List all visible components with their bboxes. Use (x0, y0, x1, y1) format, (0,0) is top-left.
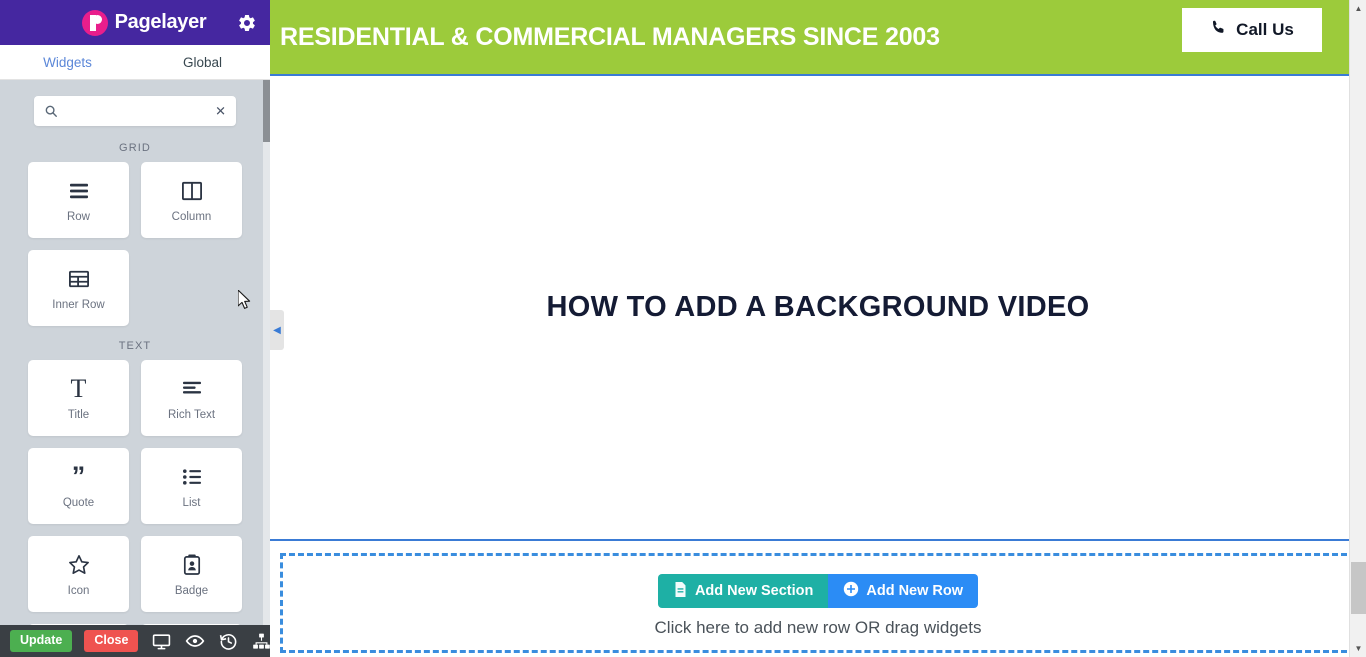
widget-label: Icon (68, 585, 90, 597)
update-button[interactable]: Update (10, 630, 72, 652)
widget-label: Inner Row (52, 299, 104, 311)
widget-label: Badge (175, 585, 208, 597)
history-icon[interactable] (219, 630, 238, 652)
widget-card-list[interactable]: List (141, 448, 242, 524)
banner-title: RESIDENTIAL & COMMERCIAL MANAGERS SINCE … (280, 23, 940, 52)
widget-label: List (183, 497, 201, 509)
widget-label: Column (172, 211, 212, 223)
file-icon (673, 581, 688, 602)
sidebar-content: ✕ GRID Row (0, 80, 270, 657)
search-icon (44, 104, 58, 118)
widget-card-rich-text[interactable]: Rich Text (141, 360, 242, 436)
widget-card-badge[interactable]: Badge (141, 536, 242, 612)
widget-grid-grid: Row Column (0, 162, 270, 326)
table-icon (68, 266, 90, 292)
hero-banner: RESIDENTIAL & COMMERCIAL MANAGERS SINCE … (270, 0, 1366, 76)
desktop-icon[interactable] (152, 630, 171, 652)
id-badge-icon (183, 552, 201, 578)
category-label-text: TEXT (0, 340, 270, 352)
scroll-up-arrow-icon[interactable]: ▲ (1350, 0, 1366, 17)
phone-icon (1210, 19, 1227, 41)
columns-icon (181, 178, 203, 204)
add-new-row-label: Add New Row (866, 583, 963, 599)
star-icon (68, 552, 90, 578)
widget-label: Row (67, 211, 90, 223)
align-left-icon (181, 376, 203, 402)
search-input[interactable] (34, 96, 243, 126)
widget-card-icon[interactable]: Icon (28, 536, 129, 612)
widget-card-quote[interactable]: ” Quote (28, 448, 129, 524)
sidebar-topbar: Pagelayer (0, 0, 270, 45)
pagelayer-editor: Pagelayer Widgets Global (0, 0, 1366, 657)
plus-circle-icon (843, 581, 859, 601)
close-icon[interactable]: ✕ (215, 105, 226, 118)
add-new-row-button[interactable]: Add New Row (828, 574, 978, 608)
sidebar-scrollbar-thumb[interactable] (263, 80, 270, 142)
page-content-section[interactable]: HOW TO ADD A BACKGROUND VIDEO (270, 76, 1366, 541)
add-new-section-label: Add New Section (695, 583, 813, 599)
sidebar-scrollbar[interactable] (263, 80, 270, 657)
widget-card-row[interactable]: Row (28, 162, 129, 238)
search-box[interactable]: ✕ (34, 96, 236, 126)
widget-card-column[interactable]: Column (141, 162, 242, 238)
sitemap-icon[interactable] (252, 630, 271, 652)
page-title: HOW TO ADD A BACKGROUND VIDEO (546, 291, 1089, 324)
add-row-dropzone[interactable]: Add New Section Add New Row Click here t… (280, 553, 1356, 653)
canvas-scrollbar-thumb[interactable] (1351, 562, 1366, 614)
scroll-down-arrow-icon[interactable]: ▼ (1350, 640, 1366, 657)
rows-icon (68, 178, 90, 204)
brand-logo[interactable]: Pagelayer (64, 10, 207, 36)
category-label-grid: GRID (0, 142, 270, 154)
eye-icon[interactable] (185, 630, 205, 652)
widget-label: Title (68, 409, 89, 421)
editor-bottom-toolbar: Update Close (0, 625, 270, 657)
widget-label: Rich Text (168, 409, 215, 421)
quote-icon: ” (72, 464, 86, 490)
widget-label: Quote (63, 497, 94, 509)
widget-card-title[interactable]: T Title (28, 360, 129, 436)
chevron-left-icon: ◀ (273, 325, 281, 336)
pagelayer-logo-icon (82, 10, 108, 36)
list-icon (181, 464, 203, 490)
widget-card-inner-row[interactable]: Inner Row (28, 250, 129, 326)
close-button[interactable]: Close (84, 630, 138, 652)
canvas-scrollbar[interactable]: ▲ ▼ (1349, 0, 1366, 657)
call-us-label: Call Us (1236, 20, 1294, 40)
tab-widgets[interactable]: Widgets (0, 45, 135, 79)
sidebar-collapse-handle[interactable]: ◀ (270, 310, 284, 350)
sidebar-tabs: Widgets Global (0, 45, 270, 80)
search-container: ✕ (0, 80, 270, 136)
brand-name: Pagelayer (115, 11, 207, 34)
dropzone-hint: Click here to add new row OR drag widget… (655, 618, 982, 638)
call-us-button[interactable]: Call Us (1182, 8, 1322, 52)
tab-global[interactable]: Global (135, 45, 270, 79)
widgets-sidebar: Pagelayer Widgets Global (0, 0, 270, 657)
dropzone-buttons: Add New Section Add New Row (658, 574, 978, 608)
gear-icon[interactable] (236, 12, 258, 34)
page-canvas: RESIDENTIAL & COMMERCIAL MANAGERS SINCE … (270, 0, 1366, 657)
widget-grid-text: T Title Rich Text (0, 360, 270, 657)
add-new-section-button[interactable]: Add New Section (658, 574, 828, 608)
title-text-icon: T (71, 376, 87, 402)
